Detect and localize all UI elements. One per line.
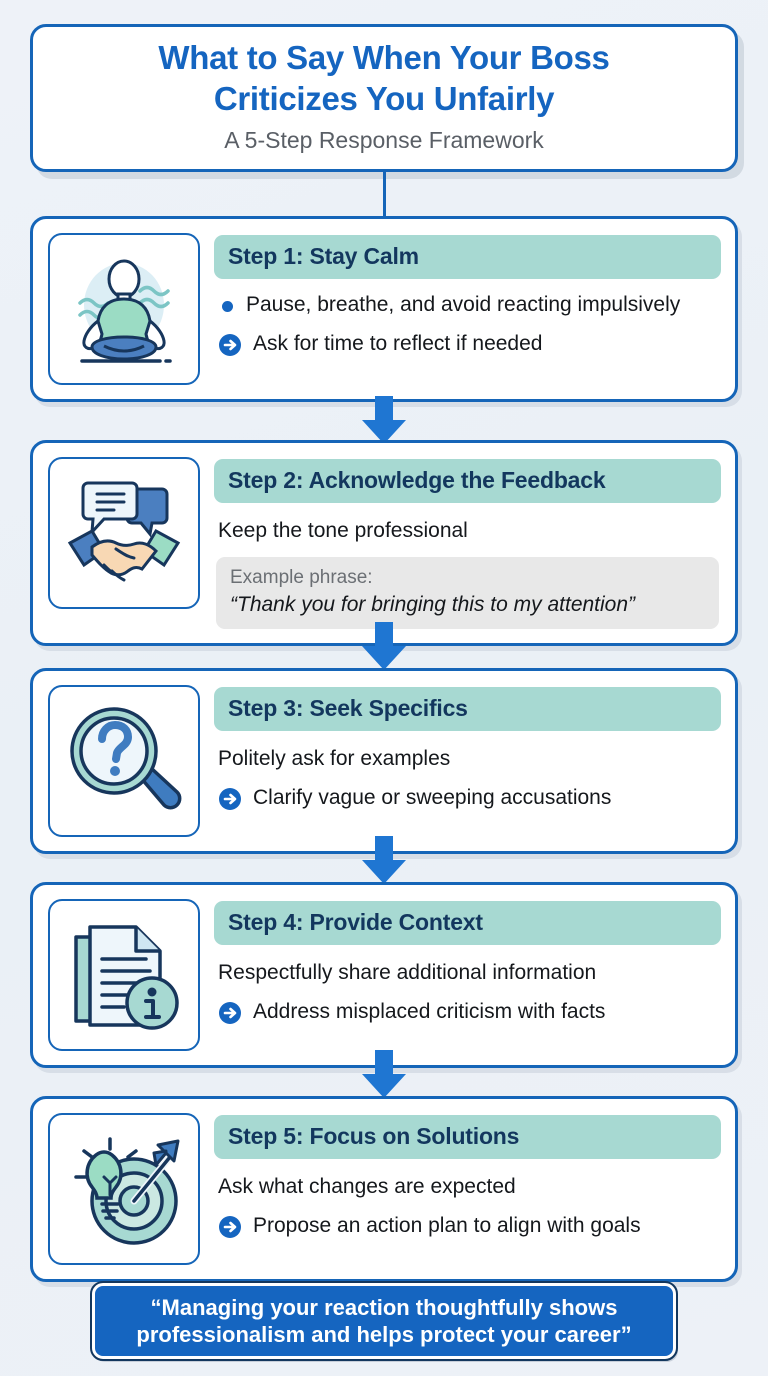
lightbulb-target-arrow-icon [48, 1113, 200, 1265]
page-title: What to Say When Your Boss Criticizes Yo… [158, 38, 609, 119]
step-header-4: Step 4: Provide Context [214, 901, 721, 945]
step-line: Politely ask for examples [216, 746, 719, 772]
title-line-2: Criticizes You Unfairly [158, 79, 609, 119]
meditation-lotus-icon [48, 233, 200, 385]
step-body-5: Step 5: Focus on Solutions Ask what chan… [214, 1113, 721, 1247]
example-phrase-box: Example phrase: “Thank you for bringing … [216, 557, 719, 629]
connector-arrow-4-5 [362, 1050, 406, 1098]
step-line: Respectfully share additional informatio… [216, 960, 719, 986]
step-line-text: Politely ask for examples [218, 746, 719, 772]
footer-quote-line-2: professionalism and helps protect your c… [136, 1321, 631, 1348]
step-line-text: Pause, breathe, and avoid reacting impul… [246, 292, 719, 318]
connector-arrow-2-3 [362, 622, 406, 670]
step-line-text: Keep the tone professional [218, 518, 719, 544]
step-body-4: Step 4: Provide Context Respectfully sha… [214, 899, 721, 1033]
step-line: Address misplaced criticism with facts [216, 999, 719, 1032]
step-header-1: Step 1: Stay Calm [214, 235, 721, 279]
page-subtitle: A 5-Step Response Framework [224, 127, 544, 154]
arrow-circle-icon [218, 1001, 242, 1032]
step-line: Ask for time to reflect if needed [216, 331, 719, 364]
arrow-circle-icon [218, 787, 242, 818]
step-body-2: Step 2: Acknowledge the Feedback Keep th… [214, 457, 721, 629]
footer-quote-banner: “Managing your reaction thoughtfully sho… [92, 1283, 676, 1359]
connector-arrow-1-2 [362, 396, 406, 444]
step-line-text: Propose an action plan to align with goa… [253, 1213, 719, 1239]
handshake-speech-bubbles-icon [48, 457, 200, 609]
step-header-2: Step 2: Acknowledge the Feedback [214, 459, 721, 503]
step-line: Keep the tone professional [216, 518, 719, 544]
step-line-text: Respectfully share additional informatio… [218, 960, 719, 986]
footer-quote-text: “Managing your reaction thoughtfully sho… [136, 1294, 631, 1349]
arrow-circle-icon [218, 1215, 242, 1246]
step-line: Propose an action plan to align with goa… [216, 1213, 719, 1246]
connector-stem-title [383, 172, 386, 216]
document-info-icon [48, 899, 200, 1051]
step-card-3: Step 3: Seek Specifics Politely ask for … [30, 668, 738, 854]
step-card-2: Step 2: Acknowledge the Feedback Keep th… [30, 440, 738, 646]
step-lines-4: Respectfully share additional informatio… [214, 960, 721, 1033]
dot-bullet-icon [222, 301, 233, 312]
step-line-text: Ask what changes are expected [218, 1174, 719, 1200]
magnifier-question-icon [48, 685, 200, 837]
step-card-1: Step 1: Stay Calm Pause, breathe, and av… [30, 216, 738, 402]
step-body-3: Step 3: Seek Specifics Politely ask for … [214, 685, 721, 819]
step-header-5: Step 5: Focus on Solutions [214, 1115, 721, 1159]
step-line-text: Address misplaced criticism with facts [253, 999, 719, 1025]
step-card-5: Step 5: Focus on Solutions Ask what chan… [30, 1096, 738, 1282]
title-card: What to Say When Your Boss Criticizes Yo… [30, 24, 738, 172]
step-header-3: Step 3: Seek Specifics [214, 687, 721, 731]
step-lines-3: Politely ask for examples Clarify vague … [214, 746, 721, 819]
example-phrase-label: Example phrase: [230, 566, 705, 590]
step-lines-5: Ask what changes are expected Propose an… [214, 1174, 721, 1247]
step-line: Pause, breathe, and avoid reacting impul… [216, 292, 719, 318]
connector-arrow-3-4 [362, 836, 406, 884]
step-line: Clarify vague or sweeping accusations [216, 785, 719, 818]
title-line-1: What to Say When Your Boss [158, 38, 609, 78]
arrow-circle-icon [218, 333, 242, 364]
step-line-text: Ask for time to reflect if needed [253, 331, 719, 357]
step-lines-2: Keep the tone professional Example phras… [214, 518, 721, 629]
step-line-text: Clarify vague or sweeping accusations [253, 785, 719, 811]
step-lines-1: Pause, breathe, and avoid reacting impul… [214, 292, 721, 365]
step-line: Ask what changes are expected [216, 1174, 719, 1200]
step-body-1: Step 1: Stay Calm Pause, breathe, and av… [214, 233, 721, 365]
infographic-page: What to Say When Your Boss Criticizes Yo… [0, 0, 768, 1376]
step-card-4: Step 4: Provide Context Respectfully sha… [30, 882, 738, 1068]
example-phrase-quote: “Thank you for bringing this to my atten… [230, 591, 705, 618]
footer-quote-line-1: “Managing your reaction thoughtfully sho… [136, 1294, 631, 1321]
